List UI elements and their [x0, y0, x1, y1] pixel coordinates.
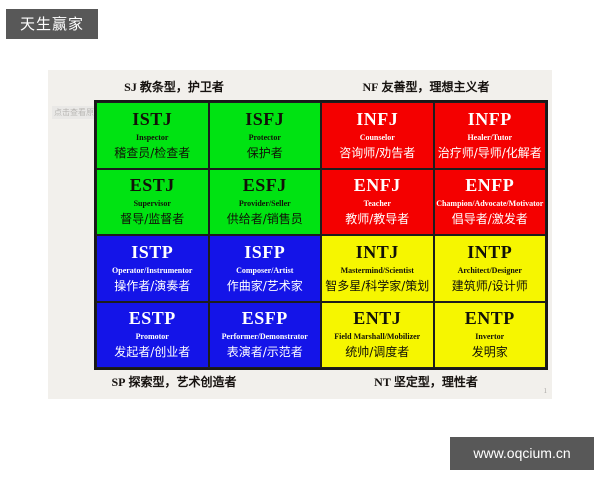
- type-code: ESFP: [242, 308, 288, 329]
- top-quadrant-captions: SJ教条型，护卫者 NF友善型，理想主义者: [48, 74, 552, 100]
- type-english-name: Invertor: [475, 329, 504, 344]
- quadrant-text-sj: 教条型，护卫者: [140, 80, 224, 94]
- bottom-quadrant-captions: SP探索型，艺术创造者 NT坚定型，理性者: [48, 369, 552, 395]
- type-cell-esfj[interactable]: ESFJProvider/Seller供给者/销售员: [209, 169, 322, 236]
- type-english-name: Operator/Instrumentor: [112, 263, 192, 278]
- type-chinese-name: 保护者: [247, 145, 283, 162]
- type-chinese-name: 倡导者/激发者: [452, 211, 528, 228]
- type-english-name: Inspector: [136, 130, 168, 145]
- type-english-name: Composer/Artist: [236, 263, 293, 278]
- quadrant-caption-nt: NT坚定型，理性者: [300, 369, 552, 395]
- type-cell-entj[interactable]: ENTJField Marshall/Mobilizer统帅/调度者: [321, 302, 434, 369]
- type-chinese-name: 稽查员/检查者: [114, 145, 190, 162]
- mbti-type-matrix: ISTJInspector稽查员/检查者ISFJProtector保护者INFJ…: [94, 100, 548, 370]
- type-english-name: Provider/Seller: [239, 196, 291, 211]
- quadrant-text-nt: 坚定型，理性者: [394, 375, 478, 389]
- site-badge: 天生赢家: [6, 9, 98, 39]
- type-english-name: Healer/Tutor: [467, 130, 512, 145]
- quadrant-caption-sj: SJ教条型，护卫者: [48, 74, 300, 100]
- type-cell-istj[interactable]: ISTJInspector稽查员/检查者: [96, 102, 209, 169]
- type-chinese-name: 统帅/调度者: [345, 344, 409, 361]
- type-chinese-name: 供给者/销售员: [227, 211, 303, 228]
- type-cell-infp[interactable]: INFPHealer/Tutor治疗师/导师/化解者: [434, 102, 547, 169]
- type-code: ESTP: [129, 308, 176, 329]
- type-code: ISFP: [244, 242, 285, 263]
- quadrant-caption-sp: SP探索型，艺术创造者: [48, 369, 300, 395]
- type-english-name: Champion/Advocate/Motivator: [436, 196, 543, 211]
- type-cell-infj[interactable]: INFJCounselor咨询师/劝告者: [321, 102, 434, 169]
- type-chinese-name: 智多星/科学家/策划: [325, 278, 429, 295]
- type-english-name: Promotor: [136, 329, 169, 344]
- type-english-name: Mastermind/Scientist: [341, 263, 414, 278]
- type-english-name: Performer/Demonstrator: [222, 329, 308, 344]
- type-chinese-name: 建筑师/设计师: [452, 278, 528, 295]
- type-cell-intj[interactable]: INTJMastermind/Scientist智多星/科学家/策划: [321, 235, 434, 302]
- type-code: INTP: [467, 242, 512, 263]
- type-english-name: Counselor: [360, 130, 395, 145]
- type-cell-estj[interactable]: ESTJSupervisor督导/监督者: [96, 169, 209, 236]
- type-cell-enfj[interactable]: ENFJTeacher教师/教导者: [321, 169, 434, 236]
- type-chinese-name: 发明家: [472, 344, 508, 361]
- type-english-name: Architect/Designer: [458, 263, 522, 278]
- type-cell-isfp[interactable]: ISFPComposer/Artist作曲家/艺术家: [209, 235, 322, 302]
- page-corner-mark: 1: [544, 387, 548, 395]
- type-code: INTJ: [356, 242, 399, 263]
- scanned-page-panel: 点击查看原网页 SJ教条型，护卫者 NF友善型，理想主义者 ISTJInspec…: [48, 70, 552, 399]
- type-chinese-name: 发起者/创业者: [114, 344, 190, 361]
- type-chinese-name: 督导/监督者: [120, 211, 184, 228]
- type-chinese-name: 教师/教导者: [345, 211, 409, 228]
- type-code: ENFJ: [354, 175, 401, 196]
- type-chinese-name: 表演者/示范者: [227, 344, 303, 361]
- type-cell-istp[interactable]: ISTPOperator/Instrumentor操作者/演奏者: [96, 235, 209, 302]
- quadrant-code-sj: SJ: [124, 80, 137, 94]
- type-code: ESFJ: [243, 175, 287, 196]
- quadrant-caption-nf: NF友善型，理想主义者: [300, 74, 552, 100]
- type-code: ENFP: [465, 175, 514, 196]
- quadrant-text-sp: 探索型，艺术创造者: [129, 375, 237, 389]
- type-code: ISFJ: [245, 109, 284, 130]
- type-cell-intp[interactable]: INTPArchitect/Designer建筑师/设计师: [434, 235, 547, 302]
- type-english-name: Field Marshall/Mobilizer: [334, 329, 420, 344]
- type-code: INFP: [468, 109, 512, 130]
- type-english-name: Teacher: [364, 196, 391, 211]
- type-english-name: Supervisor: [134, 196, 171, 211]
- quadrant-code-nt: NT: [374, 375, 391, 389]
- type-cell-esfp[interactable]: ESFPPerformer/Demonstrator表演者/示范者: [209, 302, 322, 369]
- type-cell-entp[interactable]: ENTPInvertor发明家: [434, 302, 547, 369]
- quadrant-code-nf: NF: [362, 80, 378, 94]
- type-code: ISTP: [131, 242, 173, 263]
- quadrant-code-sp: SP: [111, 375, 125, 389]
- type-chinese-name: 操作者/演奏者: [114, 278, 190, 295]
- site-watermark: www.oqcium.cn: [450, 437, 594, 470]
- type-code: ENTP: [465, 308, 515, 329]
- type-code: INFJ: [356, 109, 398, 130]
- type-cell-isfj[interactable]: ISFJProtector保护者: [209, 102, 322, 169]
- type-code: ESTJ: [130, 175, 175, 196]
- type-chinese-name: 咨询师/劝告者: [339, 145, 415, 162]
- type-chinese-name: 作曲家/艺术家: [227, 278, 303, 295]
- type-code: ENTJ: [353, 308, 401, 329]
- quadrant-text-nf: 友善型，理想主义者: [381, 80, 489, 94]
- type-code: ISTJ: [132, 109, 172, 130]
- type-cell-estp[interactable]: ESTPPromotor发起者/创业者: [96, 302, 209, 369]
- type-english-name: Protector: [249, 130, 281, 145]
- type-cell-enfp[interactable]: ENFPChampion/Advocate/Motivator倡导者/激发者: [434, 169, 547, 236]
- type-chinese-name: 治疗师/导师/化解者: [438, 145, 542, 162]
